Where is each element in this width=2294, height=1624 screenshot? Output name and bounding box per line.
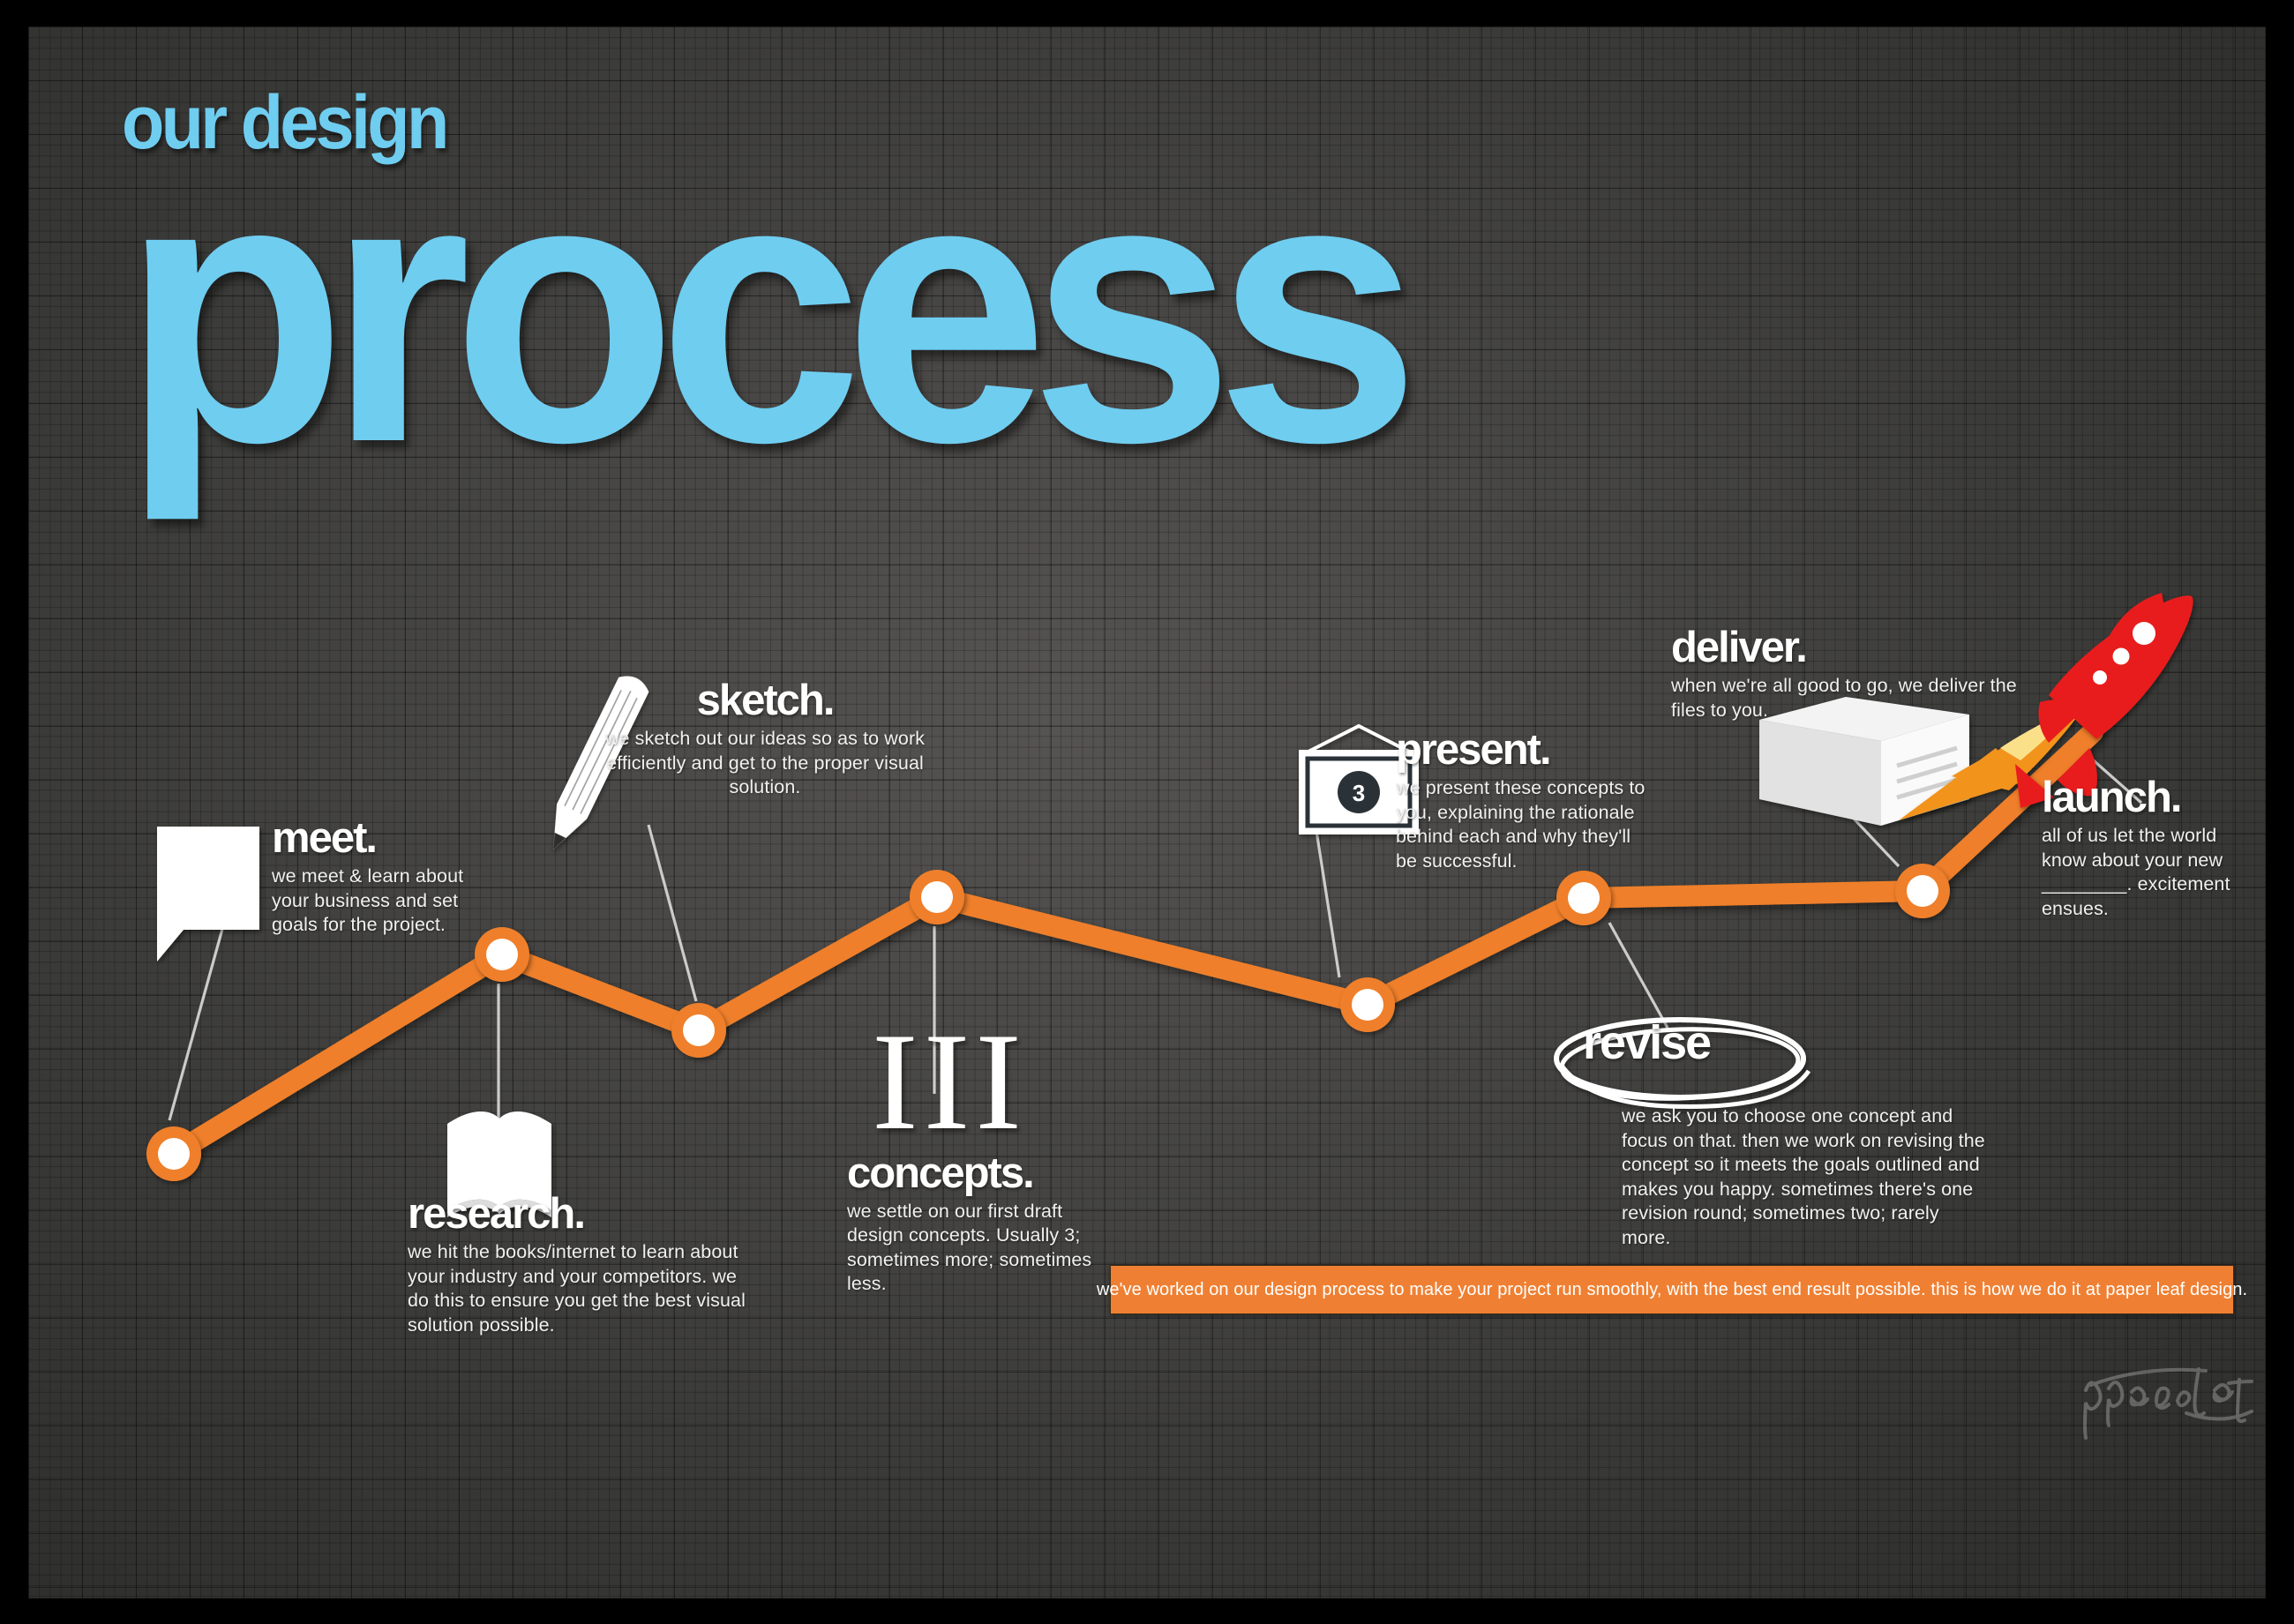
step-title-research: research.: [408, 1193, 752, 1236]
step-title-launch: launch.: [2042, 776, 2231, 819]
step-body-deliver: when we're all good to go, we deliver th…: [1671, 674, 2024, 722]
step-body-concepts: we settle on our first draft design conc…: [847, 1200, 1103, 1297]
summary-banner-text: we've worked on our design process to ma…: [1097, 1280, 2247, 1300]
grid-canvas: our design process: [28, 26, 2266, 1598]
node-concepts[interactable]: [910, 870, 964, 924]
roman-numeral-three-icon: III: [847, 1025, 1052, 1140]
step-body-sketch: we sketch out our ideas so as to work ef…: [593, 727, 937, 800]
step-block-concepts: III concepts. we settle on our first dra…: [847, 1025, 1103, 1297]
step-title-concepts: concepts.: [847, 1152, 1103, 1195]
step-block-sketch: sketch. we sketch out our ideas so as to…: [593, 679, 937, 800]
node-deliver[interactable]: [1895, 864, 1950, 918]
step-block-launch: launch. all of us let the world know abo…: [2042, 776, 2231, 921]
step-title-present: present.: [1396, 729, 1652, 772]
node-sketch[interactable]: [671, 1003, 726, 1058]
step-block-deliver: deliver. when we're all good to go, we d…: [1671, 626, 2024, 722]
summary-banner: we've worked on our design process to ma…: [1110, 1265, 2234, 1314]
step-title-sketch: sketch.: [593, 679, 937, 722]
node-present[interactable]: [1340, 977, 1395, 1032]
node-meet[interactable]: [146, 1126, 201, 1181]
present-badge: 3: [1353, 780, 1365, 806]
step-title-deliver: deliver.: [1671, 626, 2024, 670]
step-body-present: we present these concepts to you, explai…: [1396, 776, 1652, 873]
step-body-revise: we ask you to choose one concept and foc…: [1622, 1104, 1992, 1250]
step-title-revise-wrap: revise: [1583, 1019, 1795, 1066]
step-body-meet: we meet & learn about your business and …: [272, 864, 488, 938]
speech-bubble-icon: [157, 827, 259, 962]
step-title-revise: revise: [1583, 1019, 1795, 1066]
step-body-revise-wrap: we ask you to choose one concept and foc…: [1622, 1104, 1992, 1250]
step-title-meet: meet.: [272, 817, 488, 860]
process-line-chart: 3: [28, 26, 2266, 1598]
paper-leaf-logo: [2075, 1350, 2266, 1447]
node-revise[interactable]: [1556, 871, 1611, 925]
step-body-launch: all of us let the world know about your …: [2042, 824, 2231, 921]
step-body-research: we hit the books/internet to learn about…: [408, 1240, 752, 1337]
poster-root: our design process: [0, 0, 2294, 1624]
step-block-research: research. we hit the books/internet to l…: [408, 1193, 752, 1337]
step-block-meet: meet. we meet & learn about your busines…: [272, 817, 488, 938]
step-block-present: present. we present these concepts to yo…: [1396, 729, 1652, 873]
